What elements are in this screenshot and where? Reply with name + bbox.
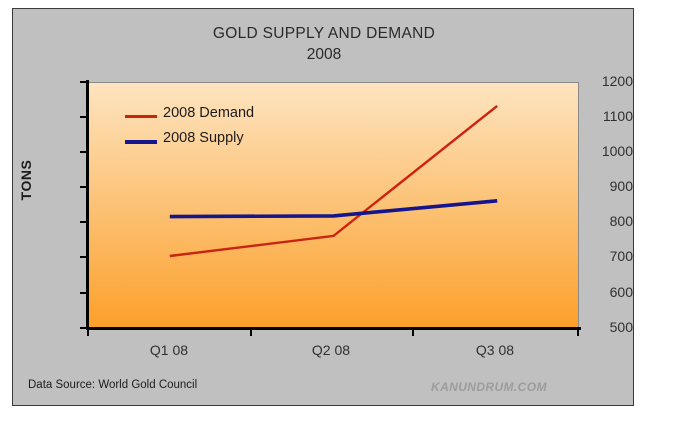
y-tick-mark-900 — [80, 186, 87, 188]
y-tick-label-600: 600 — [575, 284, 633, 300]
y-tick-label-1100: 1100 — [575, 108, 633, 124]
chart-container: GOLD SUPPLY AND DEMAND 2008 TONS 1200 11… — [12, 8, 634, 406]
y-tick-mark-700 — [80, 256, 87, 258]
x-tick-mark-0 — [87, 330, 89, 336]
y-axis-title: TONS — [18, 145, 34, 215]
chart-title: GOLD SUPPLY AND DEMAND — [13, 23, 635, 44]
x-tick-mark-3 — [577, 330, 579, 336]
legend-label-supply: 2008 Supply — [163, 130, 244, 146]
watermark: KANUNDRUM.COM — [431, 380, 547, 394]
y-tick-label-700: 700 — [575, 248, 633, 264]
data-source-note: Data Source: World Gold Council — [28, 379, 197, 391]
y-tick-label-900: 900 — [575, 178, 633, 194]
x-axis-line — [86, 327, 581, 330]
y-tick-label-1000: 1000 — [575, 143, 633, 159]
y-tick-label-800: 800 — [575, 213, 633, 229]
x-tick-mark-1 — [250, 330, 252, 336]
legend-label-demand: 2008 Demand — [163, 105, 254, 121]
legend-swatch-demand — [125, 115, 157, 118]
y-tick-mark-1000 — [80, 151, 87, 153]
y-tick-mark-500 — [80, 327, 87, 329]
y-tick-mark-1200 — [80, 81, 87, 83]
y-tick-label-1200: 1200 — [575, 73, 633, 89]
y-tick-mark-800 — [80, 221, 87, 223]
y-tick-mark-600 — [80, 292, 87, 294]
x-tick-mark-2 — [412, 330, 414, 336]
chart-subtitle: 2008 — [13, 44, 635, 65]
legend-swatch-supply — [125, 140, 157, 144]
y-tick-label-500: 500 — [575, 319, 633, 335]
x-tick-label-q2: Q2 08 — [286, 342, 376, 358]
x-tick-label-q3: Q3 08 — [450, 342, 540, 358]
x-tick-label-q1: Q1 08 — [124, 342, 214, 358]
plot-area — [88, 82, 579, 328]
y-tick-mark-1100 — [80, 116, 87, 118]
